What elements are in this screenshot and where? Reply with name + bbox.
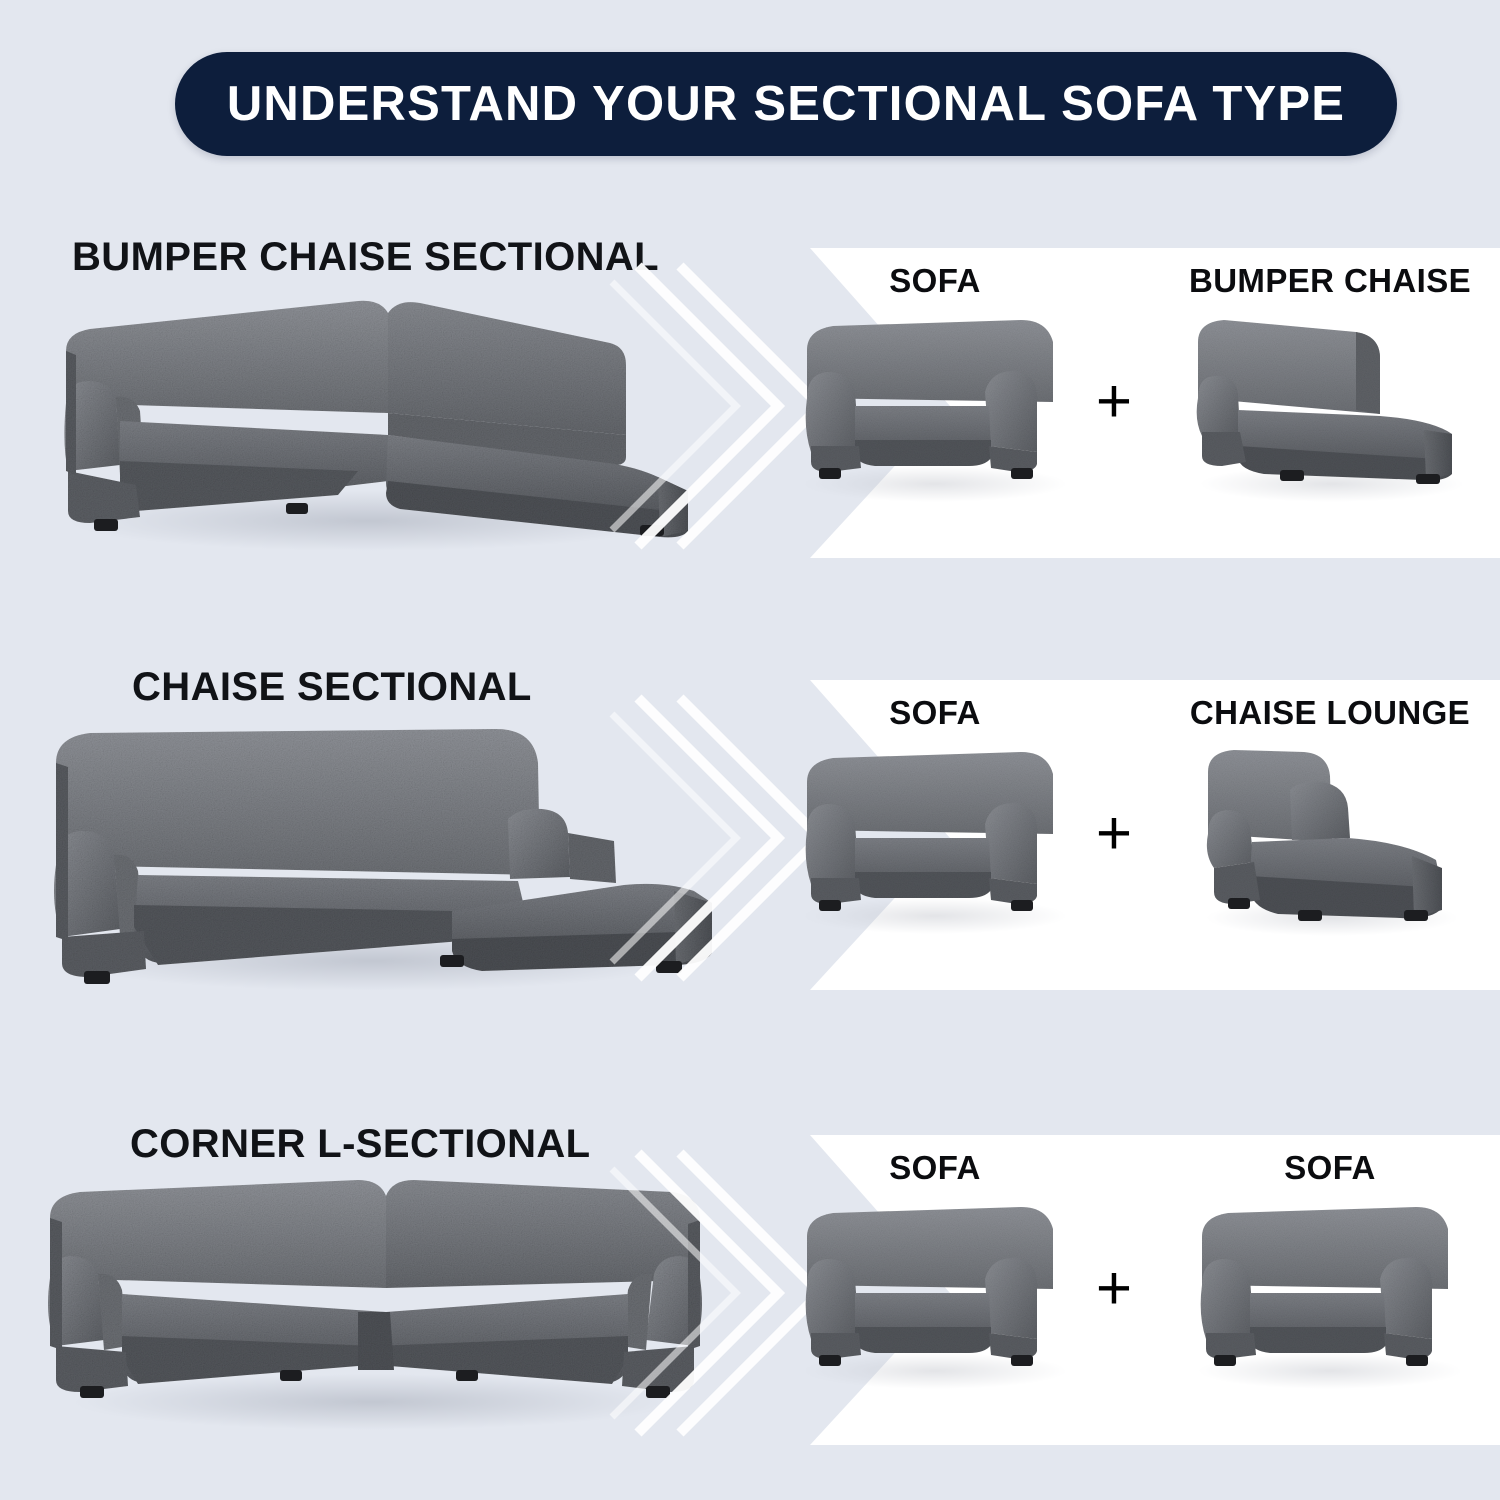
parts-panel: SOFA SOFA	[600, 1135, 1500, 1445]
section-title: CORNER L-SECTIONAL	[130, 1122, 591, 1167]
chaise-lounge-illustration	[1180, 738, 1480, 938]
section-chaise-sectional: CHAISE SECTIONAL	[0, 640, 1500, 1010]
title-banner: UNDERSTAND YOUR SECTIONAL SOFA TYPE	[175, 52, 1397, 156]
part-label-sofa-left: SOFA	[770, 1149, 1100, 1187]
three-seat-sofa-illustration	[785, 306, 1085, 506]
part-label-bumper-chaise: BUMPER CHAISE	[1165, 262, 1495, 300]
plus-sign: +	[1086, 376, 1142, 432]
three-seat-sofa-illustration	[785, 1193, 1085, 1393]
part-label-chaise-lounge: CHAISE LOUNGE	[1165, 694, 1495, 732]
section-bumper-chaise-sectional: BUMPER CHAISE SECTIONAL	[0, 210, 1500, 580]
part-label-sofa: SOFA	[770, 694, 1100, 732]
section-title: BUMPER CHAISE SECTIONAL	[72, 235, 659, 280]
parts-panel: SOFA BUMPER CHAISE	[600, 248, 1500, 558]
page-title: UNDERSTAND YOUR SECTIONAL SOFA TYPE	[227, 76, 1345, 132]
infographic-page: UNDERSTAND YOUR SECTIONAL SOFA TYPE	[0, 0, 1500, 1500]
bumper-chaise-illustration	[1180, 306, 1480, 506]
plus-sign: +	[1086, 808, 1142, 864]
section-corner-l-sectional: CORNER L-SECTIONAL	[0, 1100, 1500, 1460]
plus-sign: +	[1086, 1263, 1142, 1319]
section-title: CHAISE SECTIONAL	[132, 665, 532, 710]
three-seat-sofa-illustration	[785, 738, 1085, 938]
parts-panel: SOFA CHAISE LOUNGE	[600, 680, 1500, 990]
part-label-sofa-right: SOFA	[1165, 1149, 1495, 1187]
three-seat-sofa-illustration	[1180, 1193, 1480, 1393]
part-label-sofa: SOFA	[770, 262, 1100, 300]
